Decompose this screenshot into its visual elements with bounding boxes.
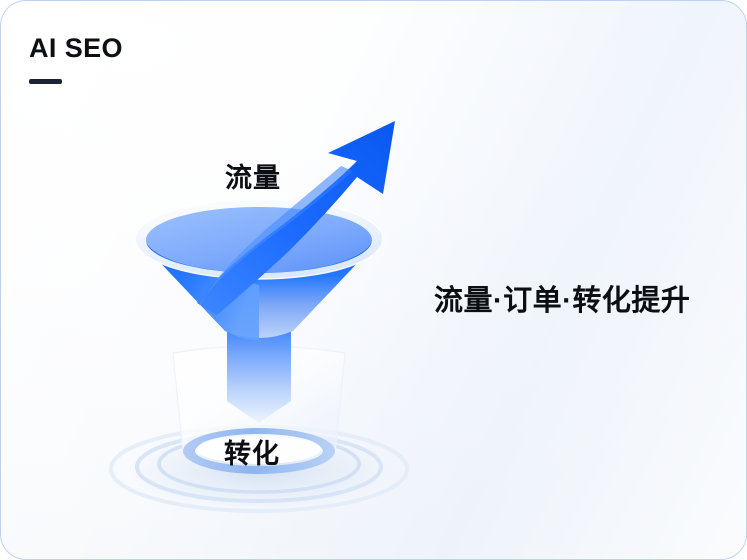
label-traffic: 流量 [225,156,281,195]
page-title: AI SEO [29,35,123,62]
label-conversion: 转化 [224,432,280,471]
page-title-group: AI SEO [29,35,123,84]
title-underline-rule [29,79,62,84]
slide-card: AI SEO 流量 转化 流量·订单·转化提升 [0,0,747,560]
tagline-text: 流量·订单·转化提升 [434,277,690,319]
